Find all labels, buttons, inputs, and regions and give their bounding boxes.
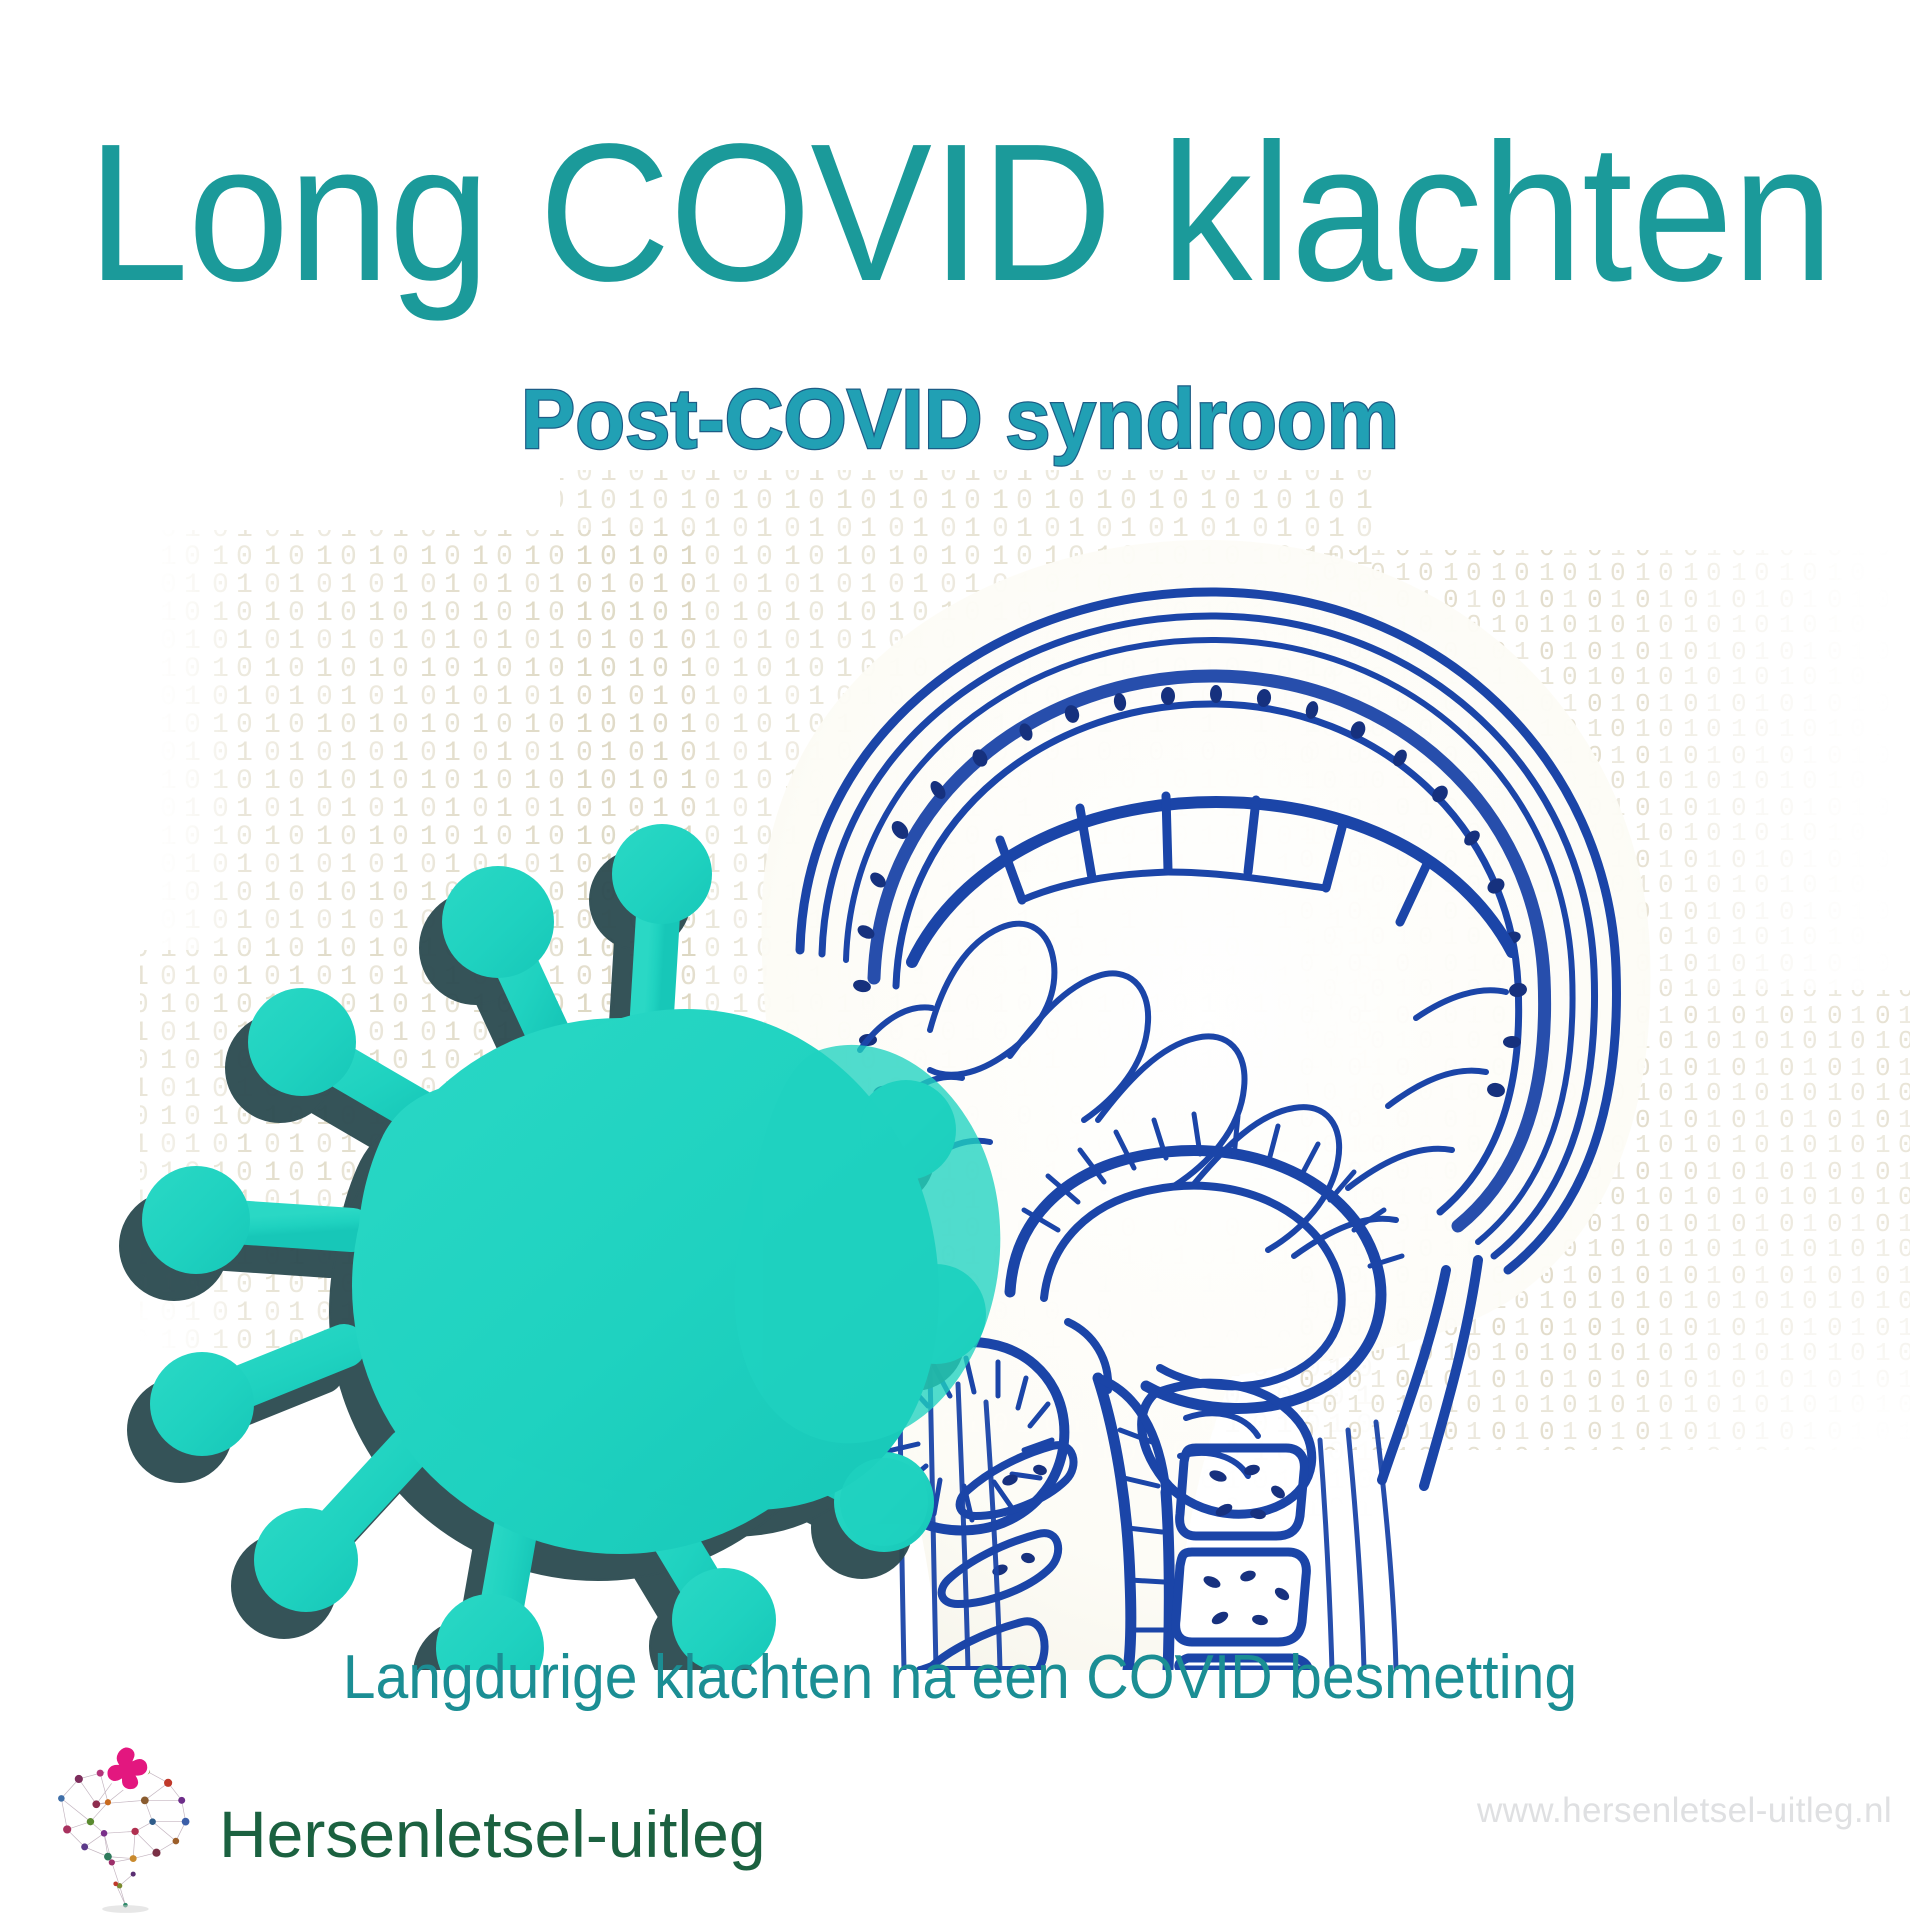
brand-name: Hersenletsel-uitleg [219, 1799, 766, 1869]
poster-canvas: 1 0 0 1 0 1 1 0 [0, 0, 1920, 1920]
brain-network-puzzle-icon [40, 1740, 205, 1915]
site-url[interactable]: www.hersenletsel-uitleg.nl [1477, 1792, 1892, 1830]
title-block: Long COVID klachten [0, 118, 1920, 308]
page-subtitle: Post-COVID syndroom [29, 375, 1891, 463]
page-title: Long COVID klachten [67, 118, 1853, 308]
puzzle-piece-icon [106, 1746, 149, 1791]
page-caption: Langdurige klachten na een COVID besmett… [48, 1645, 1872, 1711]
covid-brain-illustration: 1 0 0 1 0 1 1 0 [0, 430, 1920, 1670]
brand-lockup[interactable]: Hersenletsel-uitleg [40, 1740, 766, 1915]
caption-block: Langdurige klachten na een COVID besmett… [0, 1645, 1920, 1711]
footer: Hersenletsel-uitleg www.hersenletsel-uit… [0, 1720, 1920, 1920]
illustration-area: 1 0 0 1 0 1 1 0 [0, 430, 1920, 1670]
subtitle-block: Post-COVID syndroom [0, 375, 1920, 463]
